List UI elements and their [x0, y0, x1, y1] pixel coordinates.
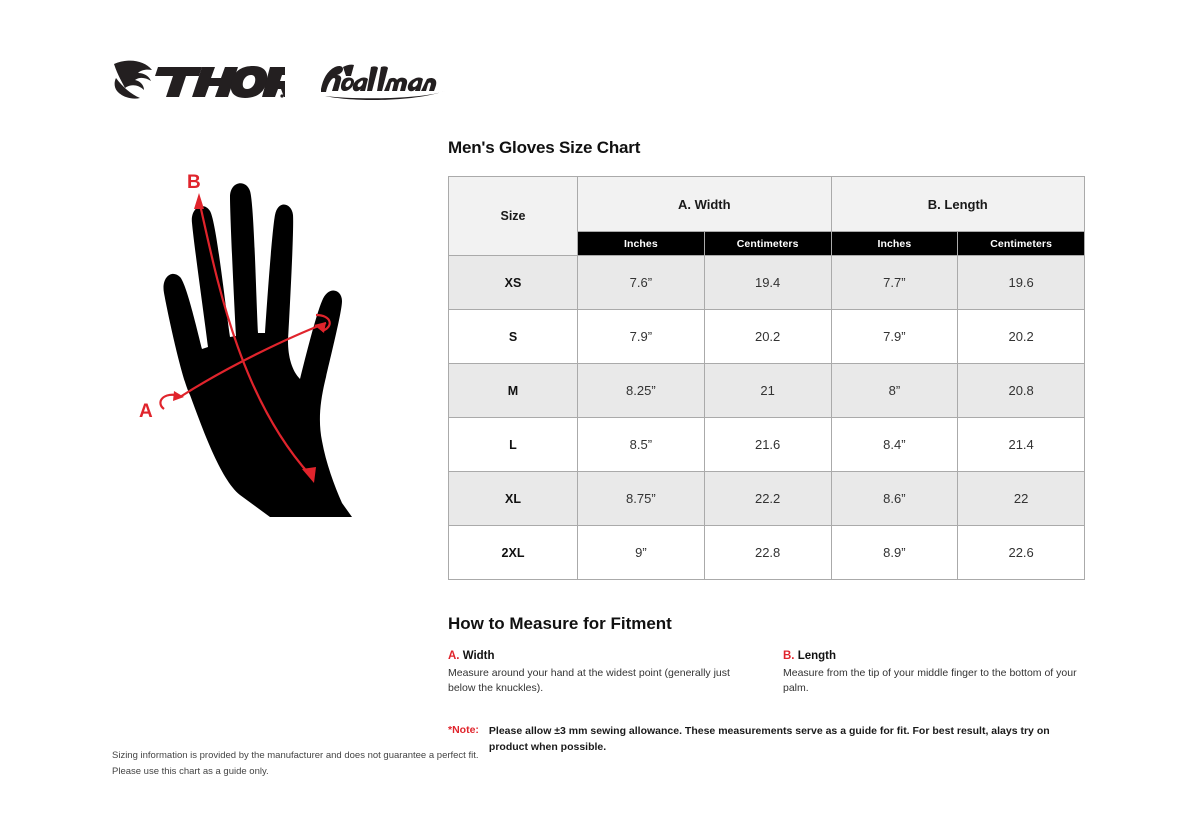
footer-line-1: Sizing information is provided by the ma…: [112, 748, 479, 764]
cell-width-inches: 9”: [578, 526, 705, 580]
column-header-length-centimeters: Centimeters: [958, 232, 1085, 256]
registered-mark: [280, 94, 283, 97]
cell-size: S: [449, 310, 578, 364]
cell-width-inches: 8.5”: [578, 418, 705, 472]
cell-length-inches: 8.6”: [831, 472, 958, 526]
column-header-width: A. Width: [578, 177, 832, 232]
table-row: L 8.5” 21.6 8.4” 21.4: [449, 418, 1085, 472]
table-row: XL 8.75” 22.2 8.6” 22: [449, 472, 1085, 526]
measure-item-heading: B. Length: [783, 650, 1088, 662]
size-chart-table: Size A. Width B. Length Inches Centimete…: [448, 176, 1085, 580]
column-header-length-inches: Inches: [831, 232, 958, 256]
cell-size: XL: [449, 472, 578, 526]
cell-length-centimeters: 22: [958, 472, 1085, 526]
cell-width-inches: 7.6”: [578, 256, 705, 310]
size-chart-content: Men's Gloves Size Chart Size A. Width B.…: [448, 138, 1088, 755]
how-to-measure-title: How to Measure for Fitment: [448, 614, 1088, 634]
cell-size: L: [449, 418, 578, 472]
hallman-script: [321, 65, 445, 100]
how-to-measure-section: How to Measure for Fitment A. Width Meas…: [448, 614, 1088, 696]
hand-measurement-diagram: B A: [120, 165, 420, 545]
thor-helmet-icon: [114, 61, 152, 99]
note-section: *Note: Please allow ±3 mm sewing allowan…: [448, 724, 1088, 756]
measure-item-letter: B.: [783, 650, 795, 662]
cell-length-centimeters: 21.4: [958, 418, 1085, 472]
table-header: Size A. Width B. Length Inches Centimete…: [449, 177, 1085, 256]
cell-width-centimeters: 22.2: [704, 472, 831, 526]
cell-length-inches: 7.7”: [831, 256, 958, 310]
how-to-measure-columns: A. Width Measure around your hand at the…: [448, 650, 1088, 696]
cell-length-inches: 8.9”: [831, 526, 958, 580]
hallman-logo: [313, 55, 453, 105]
measure-item-heading: A. Width: [448, 650, 753, 662]
cell-length-inches: 8”: [831, 364, 958, 418]
column-header-length: B. Length: [831, 177, 1085, 232]
hand-diagram-svg: B A: [120, 165, 420, 545]
measure-item-letter: A.: [448, 650, 460, 662]
brand-logo-bar: [110, 52, 453, 108]
cell-length-centimeters: 22.6: [958, 526, 1085, 580]
hand-silhouette-icon: [163, 183, 352, 517]
cell-size: 2XL: [449, 526, 578, 580]
cell-width-inches: 7.9”: [578, 310, 705, 364]
length-arrow-top: [194, 193, 204, 209]
column-header-size: Size: [449, 177, 578, 256]
cell-length-inches: 8.4”: [831, 418, 958, 472]
cell-width-centimeters: 22.8: [704, 526, 831, 580]
table-row: 2XL 9” 22.8 8.9” 22.6: [449, 526, 1085, 580]
table-row: XS 7.6” 19.4 7.7” 19.6: [449, 256, 1085, 310]
cell-length-inches: 7.9”: [831, 310, 958, 364]
measure-item-length: B. Length Measure from the tip of your m…: [783, 650, 1088, 696]
measure-item-description: Measure around your hand at the widest p…: [448, 666, 753, 696]
cell-width-inches: 8.25”: [578, 364, 705, 418]
table-body: XS 7.6” 19.4 7.7” 19.6 S 7.9” 20.2 7.9” …: [449, 256, 1085, 580]
cell-width-centimeters: 21: [704, 364, 831, 418]
thor-wordmark: [155, 66, 285, 98]
measure-item-name: Length: [798, 650, 836, 662]
table-row: M 8.25” 21 8” 20.8: [449, 364, 1085, 418]
page-title: Men's Gloves Size Chart: [448, 138, 1088, 158]
column-header-width-inches: Inches: [578, 232, 705, 256]
cell-size: XS: [449, 256, 578, 310]
cell-width-centimeters: 21.6: [704, 418, 831, 472]
diagram-label-a: A: [139, 401, 153, 422]
table-header-row-groups: Size A. Width B. Length: [449, 177, 1085, 232]
cell-length-centimeters: 20.8: [958, 364, 1085, 418]
measure-item-description: Measure from the tip of your middle fing…: [783, 666, 1088, 696]
measure-item-name: Width: [463, 650, 495, 662]
cell-length-centimeters: 20.2: [958, 310, 1085, 364]
footer-line-2: Please use this chart as a guide only.: [112, 764, 479, 780]
table-row: S 7.9” 20.2 7.9” 20.2: [449, 310, 1085, 364]
diagram-label-b: B: [187, 172, 201, 193]
cell-width-inches: 8.75”: [578, 472, 705, 526]
cell-length-centimeters: 19.6: [958, 256, 1085, 310]
note-text: Please allow ±3 mm sewing allowance. The…: [489, 724, 1077, 756]
measure-item-width: A. Width Measure around your hand at the…: [448, 650, 753, 696]
footer-disclaimer: Sizing information is provided by the ma…: [112, 748, 479, 779]
column-header-width-centimeters: Centimeters: [704, 232, 831, 256]
thor-logo: [110, 56, 285, 104]
cell-size: M: [449, 364, 578, 418]
cell-width-centimeters: 19.4: [704, 256, 831, 310]
cell-width-centimeters: 20.2: [704, 310, 831, 364]
